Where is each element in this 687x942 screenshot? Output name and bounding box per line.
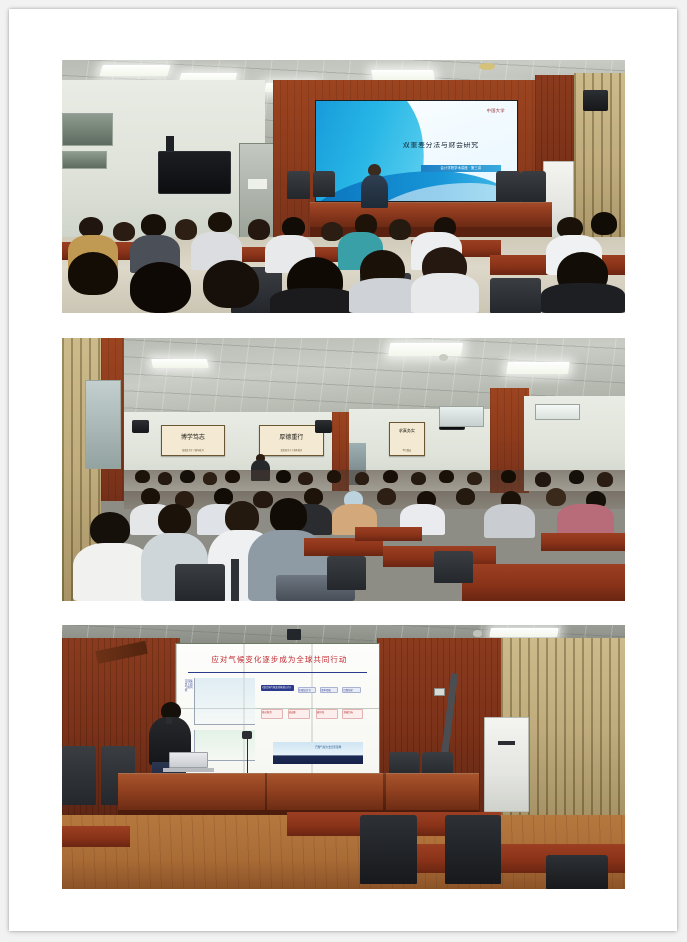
audience-body (541, 283, 625, 313)
audience-chair (360, 815, 416, 884)
audience-head (175, 219, 198, 239)
audience-body (484, 504, 535, 538)
stage-chair (62, 746, 96, 804)
ceiling-sensor-icon (439, 354, 448, 361)
audience-head (141, 488, 160, 505)
presenter-body (361, 175, 388, 208)
audience-head (68, 252, 119, 295)
document-page: 中国大学 双重差分法与财会研究 会计学院学术讲座 · 第三讲 (9, 9, 677, 931)
audience-head (411, 472, 426, 485)
wall-tv (158, 151, 231, 194)
wall-switch (434, 688, 445, 696)
audience-head (546, 488, 566, 506)
audience-head (90, 512, 129, 546)
calligraphy-text: 博学笃志 (162, 432, 225, 441)
ceiling-light (151, 359, 209, 368)
ceiling-light (387, 343, 463, 356)
audience-head (383, 470, 398, 483)
audience-head (304, 488, 323, 505)
slide-chip: 双碳目标 (342, 709, 362, 718)
ceiling-light (489, 628, 558, 637)
slide-chip: 京都议定书 (298, 687, 316, 693)
audience-head (225, 501, 259, 533)
calligraphy-signature: 某某某书于丁酉年秋月 (260, 448, 323, 452)
audience-chair (546, 855, 608, 889)
audience-table (62, 826, 130, 847)
ceiling-light (506, 362, 570, 374)
audience-head (270, 498, 307, 532)
audience-head (276, 470, 291, 483)
audience-head (389, 219, 412, 239)
audience-chair (490, 278, 541, 313)
window (62, 151, 107, 169)
audience-head (180, 470, 195, 483)
desk-microphone (242, 731, 252, 739)
stage-chair (287, 171, 310, 199)
audience-desk (541, 533, 625, 551)
audience-head (214, 488, 233, 505)
calligraphy-frame: 博学笃志 某某某书于丁酉年秋月 (161, 425, 226, 457)
calligraphy-signature: 笃行致远 (390, 448, 425, 452)
audience-head (141, 214, 166, 236)
audience-head (298, 472, 313, 485)
slide-chart-upper (194, 678, 255, 725)
audience-head (535, 472, 551, 486)
window (62, 113, 113, 146)
handheld-microphone (166, 717, 172, 724)
podium-seam (383, 773, 386, 810)
audience-chair (175, 564, 226, 601)
slide-chip: 碳达峰 (288, 709, 310, 718)
slide-title: 双重差分法与财会研究 (379, 142, 503, 150)
audience-head (225, 470, 240, 483)
stage-chair (521, 171, 546, 201)
ceiling-light (100, 65, 171, 76)
slide-chip: 《联合国气候变化框架公约》 (261, 685, 294, 692)
university-logo: 中国大学 (487, 108, 505, 114)
audience-head (377, 488, 396, 505)
slide-divider (188, 672, 367, 674)
photo-2[interactable]: 博学笃志 某某某书于丁酉年秋月 厚德重行 某某某书于丁酉年秋月 求真务实 笃行致… (62, 338, 625, 601)
presentation-screen: 中国大学 双重差分法与财会研究 会计学院学术讲座 · 第三讲 (315, 100, 518, 201)
cabinet-handle (498, 741, 515, 745)
desk-microphone-stand (247, 733, 248, 778)
slide-photo-caption: 巴黎气候大会合影现场 (298, 745, 359, 749)
calligraphy-text: 厚德重行 (260, 432, 323, 441)
stage-podium (118, 773, 478, 810)
calligraphy-frame: 厚德重行 某某某书于丁酉年秋月 (259, 425, 324, 457)
audience-head (597, 472, 613, 486)
stage-desk (310, 202, 552, 227)
slide-title: 应对气候变化逐步成为全球共同行动 (192, 654, 367, 665)
photo-1[interactable]: 中国大学 双重差分法与财会研究 会计学院学术讲座 · 第三讲 (62, 60, 625, 313)
stage-chair (313, 171, 336, 196)
ceiling-projector (287, 629, 301, 640)
ceiling-sensor-icon (473, 630, 482, 636)
wall-speaker (583, 90, 608, 110)
audience-chair (327, 556, 366, 590)
photo-3-scene: 应对气候变化逐步成为全球共同行动 不同情景下的气候风险 《联合国气候变化框架公约… (62, 625, 625, 889)
chair-leg (231, 559, 239, 601)
window (535, 404, 580, 420)
audience-head (591, 212, 616, 235)
wall-speaker (132, 420, 149, 433)
photo-2-scene: 博学笃志 某某某书于丁酉年秋月 厚德重行 某某某书于丁酉年秋月 求真务实 笃行致… (62, 338, 625, 601)
audience-head (158, 504, 192, 536)
slide-chip: 碳中和 (316, 709, 338, 718)
audience-head (248, 219, 271, 239)
audience-head (130, 262, 192, 313)
audience-head (203, 472, 218, 485)
audience-chair (434, 551, 473, 583)
audience-head (327, 470, 342, 483)
slide-side-label: 不同情景下的气候风险 (185, 680, 193, 693)
audience-desk (304, 538, 383, 556)
audience-head (501, 470, 516, 483)
stage-chair (496, 171, 521, 201)
audience-head (203, 260, 259, 308)
window (439, 406, 484, 427)
slide-chip: 格拉斯哥 (261, 709, 283, 718)
audience-head (439, 470, 454, 483)
podium-seam (265, 773, 268, 810)
laptop (169, 752, 208, 768)
photo-1-scene: 中国大学 双重差分法与财会研究 会计学院学术讲座 · 第三讲 (62, 60, 625, 313)
audience-head (253, 491, 272, 508)
ceiling-light (371, 70, 435, 80)
audience-head (208, 212, 232, 232)
audience-desk (462, 564, 625, 601)
slide-chip: 哥本哈根 (320, 687, 338, 693)
audience-head (113, 222, 136, 241)
slide-chip: 巴黎协定 (342, 687, 360, 693)
laptop-base (163, 768, 214, 772)
audience-head (456, 488, 475, 505)
audience-chair (445, 815, 501, 884)
calligraphy-signature: 某某某书于丁酉年秋月 (162, 448, 225, 452)
floor-cabinet (484, 717, 529, 812)
audience-head (467, 472, 482, 485)
wall-speaker (315, 420, 332, 433)
photo-3[interactable]: 应对气候变化逐步成为全球共同行动 不同情景下的气候风险 《联合国气候变化框架公约… (62, 625, 625, 889)
calligraphy-frame: 求真务实 笃行致远 (389, 422, 426, 456)
audience-head (355, 472, 370, 485)
audience-body (411, 273, 479, 313)
calligraphy-text: 求真务实 (390, 428, 425, 434)
audience-head (158, 472, 173, 485)
audience-desk (355, 527, 423, 540)
door-sign (248, 179, 268, 189)
audience-head (569, 470, 585, 484)
window (85, 380, 122, 469)
audience-head (135, 470, 150, 483)
audience-body (270, 288, 360, 313)
slide-subtitle: 会计学院学术讲座 · 第三讲 (421, 165, 501, 172)
